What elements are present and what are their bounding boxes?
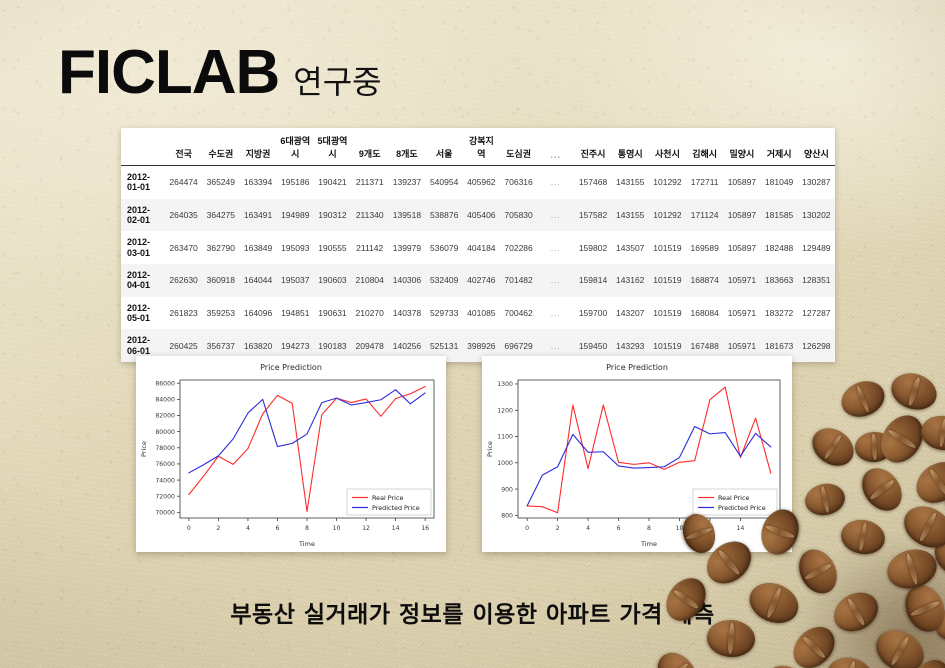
dataframe-column-header: 거제시 (761, 128, 798, 166)
chart-legend: Real PricePredicted Price (347, 489, 431, 515)
dataframe-cell: 183272 (761, 297, 798, 330)
dataframe-cell: 163394 (239, 166, 276, 199)
table-row: 2012-05-01261823359253164096194851190631… (121, 297, 835, 330)
dataframe-cell: 190312 (314, 199, 351, 232)
dataframe-cell: 700462 (500, 297, 537, 330)
dataframe-column-header: 통영시 (612, 128, 649, 166)
chart-x-tick-label: 0 (525, 525, 529, 532)
title-block: FICLAB 연구중 (58, 42, 382, 104)
dataframe-cell: 190555 (314, 231, 351, 264)
chart-series-line (189, 390, 425, 473)
dataframe-cell: ... (537, 199, 574, 232)
dataframe-cell: 263470 (165, 231, 202, 264)
dataframe-cell: 105897 (723, 231, 760, 264)
dataframe-cell: 127287 (798, 297, 835, 330)
dataframe-cell: 190603 (314, 264, 351, 297)
dataframe-cell: 210270 (351, 297, 388, 330)
chart-legend-label: Real Price (718, 494, 749, 502)
dataframe-cell: 139979 (388, 231, 425, 264)
chart-x-tick-label: 14 (736, 525, 744, 532)
chart-svg: Price Prediction800900100011001200130002… (482, 356, 792, 552)
dataframe-column-header: 전국 (165, 128, 202, 166)
dataframe-row-index: 2012-03-01 (121, 231, 165, 264)
chart-y-tick-label: 78000 (155, 445, 175, 452)
dataframe-head: 전국수도권지방권6대광역시5대광역시9개도8개도서울강복지역도심권...진주시통… (121, 128, 835, 166)
chart-y-tick-label: 900 (501, 486, 513, 493)
dataframe-cell: 130287 (798, 166, 835, 199)
dataframe-column-header: 강복지역 (463, 128, 500, 166)
chart-x-tick-label: 6 (275, 525, 279, 532)
dataframe-cell: 706316 (500, 166, 537, 199)
dataframe-cell: 211340 (351, 199, 388, 232)
dataframe-cell: 210804 (351, 264, 388, 297)
dataframe-cell: 105897 (723, 166, 760, 199)
slide-canvas: FICLAB 연구중 전국수도권지방권6대광역시5대광역시9개도8개도서울강복지… (0, 0, 945, 668)
dataframe-cell: 157468 (574, 166, 611, 199)
slide-caption: 부동산 실거래가 정보를 이용한 아파트 가격 예측 (0, 595, 945, 629)
dataframe-column-header: 6대광역시 (277, 128, 314, 166)
dataframe-cell: 194851 (277, 297, 314, 330)
chart-x-tick-label: 8 (305, 525, 309, 532)
chart-y-tick-label: 84000 (155, 397, 175, 404)
chart-y-tick-label: 82000 (155, 413, 175, 420)
dataframe-cell: 183663 (761, 264, 798, 297)
dataframe-column-header: ... (537, 128, 574, 166)
dataframe-cell: ... (537, 166, 574, 199)
table-row: 2012-04-01262630360918164044195037190603… (121, 264, 835, 297)
chart-legend-label: Real Price (372, 494, 403, 502)
dataframe-cell: 171124 (686, 199, 723, 232)
dataframe-cell: 159814 (574, 264, 611, 297)
chart-legend-label: Predicted Price (718, 504, 766, 512)
dataframe-cell: 538876 (426, 199, 463, 232)
dataframe-cell: 163849 (239, 231, 276, 264)
dataframe-cell: 264474 (165, 166, 202, 199)
dataframe-column-header: 사천시 (649, 128, 686, 166)
table-row: 2012-03-01263470362790163849195093190555… (121, 231, 835, 264)
chart-y-tick-label: 86000 (155, 380, 175, 387)
dataframe-cell: 182488 (761, 231, 798, 264)
dataframe-row-index: 2012-04-01 (121, 264, 165, 297)
dataframe-column-header: 진주시 (574, 128, 611, 166)
chart-title: Price Prediction (606, 363, 668, 372)
dataframe-cell: 143155 (612, 166, 649, 199)
chart-x-tick-label: 8 (647, 525, 651, 532)
dataframe-cell: ... (537, 297, 574, 330)
dataframe-body: 2012-01-01264474365249163394195186190421… (121, 166, 835, 363)
dataframe-cell: 143207 (612, 297, 649, 330)
chart-x-tick-label: 2 (216, 525, 220, 532)
dataframe-cell: 532409 (426, 264, 463, 297)
dataframe-cell: 128351 (798, 264, 835, 297)
dataframe-column-header: 수도권 (202, 128, 239, 166)
chart-x-tick-label: 12 (362, 525, 370, 532)
dataframe-cell: 140306 (388, 264, 425, 297)
chart-x-tick-label: 14 (392, 525, 400, 532)
dataframe-cell: 404184 (463, 231, 500, 264)
chart-y-tick-label: 800 (501, 513, 513, 520)
chart-y-tick-label: 74000 (155, 477, 175, 484)
dataframe-cell: 130202 (798, 199, 835, 232)
dataframe-cell: 101519 (649, 231, 686, 264)
dataframe-cell: 159802 (574, 231, 611, 264)
dataframe-cell: 126298 (798, 329, 835, 362)
price-prediction-chart-left: Price Prediction700007200074000760007800… (136, 356, 446, 552)
dataframe-cell: 364275 (202, 199, 239, 232)
dataframe-cell: 195037 (277, 264, 314, 297)
dataframe-table: 전국수도권지방권6대광역시5대광역시9개도8개도서울강복지역도심권...진주시통… (121, 128, 835, 362)
dataframe-cell: 101519 (649, 297, 686, 330)
dataframe-cell: 143162 (612, 264, 649, 297)
chart-x-tick-label: 2 (556, 525, 560, 532)
dataframe-cell: 211371 (351, 166, 388, 199)
dataframe-cell: 169589 (686, 231, 723, 264)
table-row: 2012-02-01264035364275163491194989190312… (121, 199, 835, 232)
chart-y-axis-label: Price (486, 441, 494, 457)
dataframe-cell: 360918 (202, 264, 239, 297)
dataframe-card: 전국수도권지방권6대광역시5대광역시9개도8개도서울강복지역도심권...진주시통… (121, 128, 835, 362)
dataframe-header-row: 전국수도권지방권6대광역시5대광역시9개도8개도서울강복지역도심권...진주시통… (121, 128, 835, 166)
dataframe-cell: 157582 (574, 199, 611, 232)
chart-x-tick-label: 16 (421, 525, 429, 532)
dataframe-column-header: 지방권 (239, 128, 276, 166)
table-row: 2012-01-01264474365249163394195186190421… (121, 166, 835, 199)
dataframe-index-header (121, 128, 165, 166)
dataframe-cell: 359253 (202, 297, 239, 330)
chart-x-tick-label: 6 (617, 525, 621, 532)
chart-x-tick-label: 10 (333, 525, 341, 532)
chart-x-tick-label: 4 (586, 525, 590, 532)
dataframe-cell: 143155 (612, 199, 649, 232)
dataframe-row-index: 2012-02-01 (121, 199, 165, 232)
dataframe-cell: ... (537, 264, 574, 297)
chart-x-axis-label: Time (640, 540, 657, 548)
dataframe-cell: 195186 (277, 166, 314, 199)
chart-legend-label: Predicted Price (372, 504, 420, 512)
dataframe-cell: 168084 (686, 297, 723, 330)
dataframe-cell: 405962 (463, 166, 500, 199)
price-prediction-chart-right: Price Prediction800900100011001200130002… (482, 356, 792, 552)
dataframe-cell: 401085 (463, 297, 500, 330)
dataframe-cell: 211142 (351, 231, 388, 264)
chart-y-tick-label: 1300 (497, 381, 513, 388)
dataframe-cell: 101519 (649, 264, 686, 297)
dataframe-cell: 181049 (761, 166, 798, 199)
dataframe-column-header: 김해시 (686, 128, 723, 166)
brand-logo-text: FICLAB (58, 42, 279, 104)
dataframe-cell: 262630 (165, 264, 202, 297)
chart-y-tick-label: 72000 (155, 493, 175, 500)
chart-title: Price Prediction (260, 363, 322, 372)
chart-x-axis-label: Time (298, 540, 315, 548)
dataframe-cell: ... (537, 231, 574, 264)
dataframe-cell: 163491 (239, 199, 276, 232)
dataframe-cell: 129489 (798, 231, 835, 264)
dataframe-cell: 140378 (388, 297, 425, 330)
dataframe-column-header: 9개도 (351, 128, 388, 166)
brand-subtitle: 연구중 (293, 66, 381, 98)
chart-y-tick-label: 70000 (155, 510, 175, 517)
dataframe-cell: 139518 (388, 199, 425, 232)
dataframe-column-header: 서울 (426, 128, 463, 166)
dataframe-cell: 705830 (500, 199, 537, 232)
dataframe-cell: 702286 (500, 231, 537, 264)
dataframe-column-header: 8개도 (388, 128, 425, 166)
dataframe-cell: 164044 (239, 264, 276, 297)
dataframe-cell: 195093 (277, 231, 314, 264)
dataframe-cell: 402746 (463, 264, 500, 297)
dataframe-cell: 194989 (277, 199, 314, 232)
chart-x-tick-label: 4 (246, 525, 250, 532)
dataframe-cell: 362790 (202, 231, 239, 264)
chart-y-tick-label: 80000 (155, 429, 175, 436)
dataframe-cell: 529733 (426, 297, 463, 330)
dataframe-column-header: 도심권 (500, 128, 537, 166)
dataframe-cell: 168874 (686, 264, 723, 297)
dataframe-cell: 101292 (649, 199, 686, 232)
dataframe-cell: 164096 (239, 297, 276, 330)
dataframe-cell: 172711 (686, 166, 723, 199)
dataframe-column-header: 밀양시 (723, 128, 760, 166)
chart-y-tick-label: 1200 (497, 407, 513, 414)
dataframe-cell: 105897 (723, 199, 760, 232)
dataframe-row-index: 2012-01-01 (121, 166, 165, 199)
dataframe-cell: 701482 (500, 264, 537, 297)
dataframe-cell: 264035 (165, 199, 202, 232)
dataframe-cell: 143507 (612, 231, 649, 264)
dataframe-cell: 540954 (426, 166, 463, 199)
dataframe-cell: 405406 (463, 199, 500, 232)
dataframe-cell: 190631 (314, 297, 351, 330)
dataframe-cell: 105971 (723, 264, 760, 297)
dataframe-cell: 365249 (202, 166, 239, 199)
dataframe-row-index: 2012-05-01 (121, 297, 165, 330)
chart-svg: Price Prediction700007200074000760007800… (136, 356, 446, 552)
dataframe-cell: 190421 (314, 166, 351, 199)
chart-y-tick-label: 1000 (497, 460, 513, 467)
chart-x-tick-label: 0 (187, 525, 191, 532)
dataframe-cell: 105971 (723, 297, 760, 330)
dataframe-cell: 536079 (426, 231, 463, 264)
chart-y-tick-label: 1100 (497, 434, 513, 441)
dataframe-cell: 139237 (388, 166, 425, 199)
chart-legend: Real PricePredicted Price (693, 489, 777, 515)
dataframe-cell: 101292 (649, 166, 686, 199)
chart-y-axis-label: Price (140, 441, 148, 457)
dataframe-column-header: 양산시 (798, 128, 835, 166)
chart-y-tick-label: 76000 (155, 461, 175, 468)
dataframe-cell: 181585 (761, 199, 798, 232)
dataframe-column-header: 5대광역시 (314, 128, 351, 166)
dataframe-cell: 159700 (574, 297, 611, 330)
dataframe-cell: 261823 (165, 297, 202, 330)
